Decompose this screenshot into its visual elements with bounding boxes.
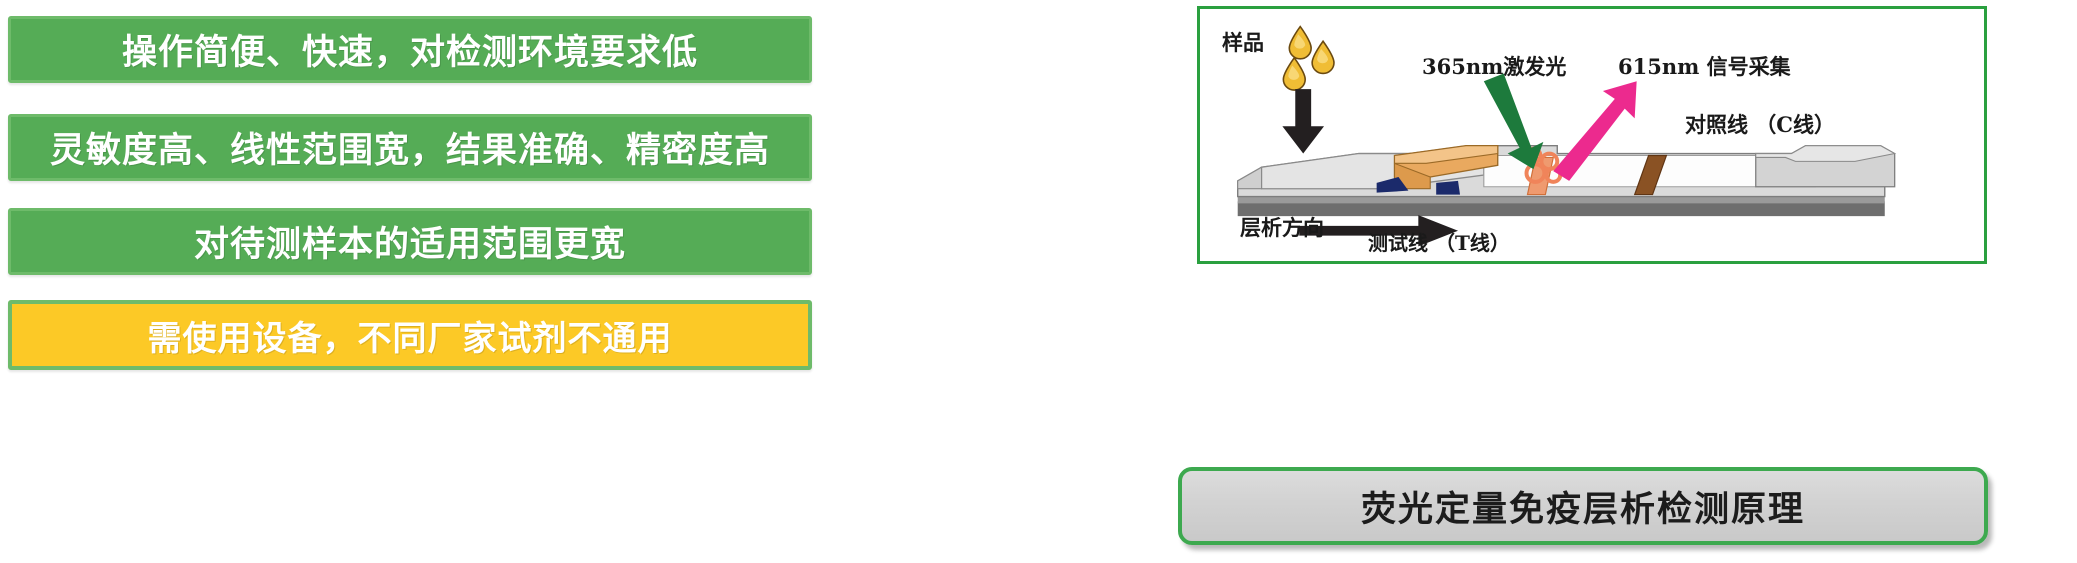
- diagram-label-sample: 样品: [1222, 27, 1264, 57]
- feature-bar-label: 需使用设备，不同厂家试剂不通用: [148, 311, 673, 360]
- droplet-icon: [1283, 27, 1334, 90]
- feature-bar-label: 对待测样本的适用范围更宽: [194, 216, 626, 267]
- feature-bar-sensitivity[interactable]: 灵敏度高、线性范围宽，结果准确、精密度高: [8, 114, 812, 181]
- diagram-label-excitation: 365nm激发光: [1422, 51, 1566, 81]
- arrow-down-icon: [1282, 89, 1324, 153]
- lateral-flow-diagram-panel: 样品 365nm激发光 615nm 信号采集 对照线 （C线） 层析方向 测试线…: [1197, 6, 1987, 264]
- feature-bar-label: 操作简便、快速，对检测环境要求低: [122, 24, 698, 75]
- diagram-label-test-line: 测试线 （T线）: [1368, 227, 1510, 256]
- diagram-title-plate[interactable]: 荧光定量免疫层析检测原理: [1178, 467, 1988, 545]
- diagram-title-text: 荧光定量免疫层析检测原理: [1361, 481, 1805, 532]
- feature-bar-equipment-required[interactable]: 需使用设备，不同厂家试剂不通用: [8, 300, 812, 370]
- diagram-label-control-line: 对照线 （C线）: [1685, 109, 1835, 139]
- diagram-label-emission: 615nm 信号采集: [1618, 51, 1791, 81]
- diagram-label-flow-direction: 层析方向: [1240, 212, 1324, 242]
- feature-bar-sample-range[interactable]: 对待测样本的适用范围更宽: [8, 208, 812, 275]
- feature-bar-list: 操作简便、快速，对检测环境要求低 灵敏度高、线性范围宽，结果准确、精密度高 对待…: [8, 10, 820, 480]
- feature-bar-operation-simple[interactable]: 操作简便、快速，对检测环境要求低: [8, 16, 812, 83]
- feature-bar-label: 灵敏度高、线性范围宽，结果准确、精密度高: [50, 122, 770, 173]
